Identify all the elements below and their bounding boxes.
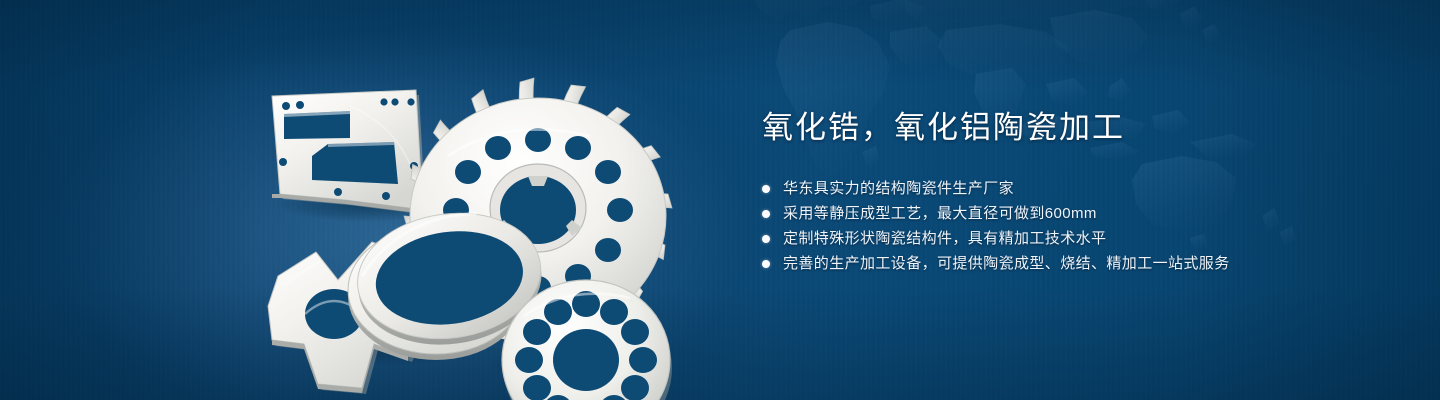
feature-text: 采用等静压成型工艺，最大直径可做到600mm xyxy=(783,201,1097,226)
bullet-dot-icon xyxy=(762,185,770,193)
hero-banner: 氧化锆，氧化铝陶瓷加工 华东具实力的结构陶瓷件生产厂家 采用等静压成型工艺，最大… xyxy=(0,0,1440,400)
list-item: 完善的生产加工设备，可提供陶瓷成型、烧结、精加工一站式服务 xyxy=(762,251,1402,276)
feature-text: 华东具实力的结构陶瓷件生产厂家 xyxy=(783,176,1014,201)
list-item: 定制特殊形状陶瓷结构件，具有精加工技术水平 xyxy=(762,226,1402,251)
feature-list: 华东具实力的结构陶瓷件生产厂家 采用等静压成型工艺，最大直径可做到600mm 定… xyxy=(762,176,1402,276)
banner-headline: 氧化锆，氧化铝陶瓷加工 xyxy=(762,108,1402,148)
feature-text: 完善的生产加工设备，可提供陶瓷成型、烧结、精加工一站式服务 xyxy=(783,251,1230,276)
list-item: 采用等静压成型工艺，最大直径可做到600mm xyxy=(762,201,1402,226)
banner-copy: 氧化锆，氧化铝陶瓷加工 华东具实力的结构陶瓷件生产厂家 采用等静压成型工艺，最大… xyxy=(762,108,1402,276)
bullet-dot-icon xyxy=(762,235,770,243)
ceramic-products-image xyxy=(238,44,688,400)
list-item: 华东具实力的结构陶瓷件生产厂家 xyxy=(762,176,1402,201)
bullet-dot-icon xyxy=(762,210,770,218)
feature-text: 定制特殊形状陶瓷结构件，具有精加工技术水平 xyxy=(783,226,1106,251)
bullet-dot-icon xyxy=(762,260,770,268)
